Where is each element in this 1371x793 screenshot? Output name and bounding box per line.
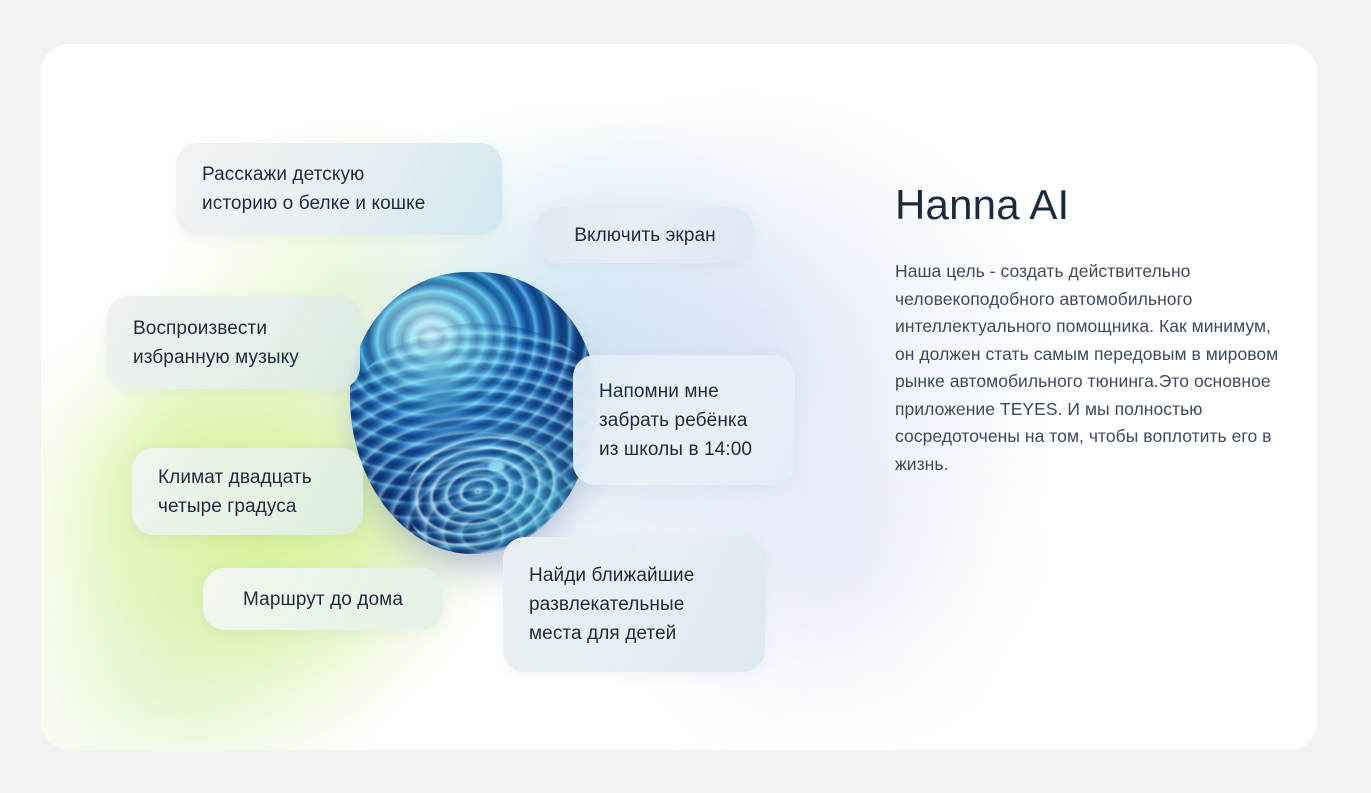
suggestion-bubble-places[interactable]: Найди ближайшиеразвлекательныеместа для … [503,537,765,672]
suggestion-bubble-route-label: Маршрут до дома [243,585,403,614]
suggestion-bubble-screen[interactable]: Включить экран [537,207,753,263]
suggestion-bubble-screen-label: Включить экран [574,221,716,250]
hanna-ai-card: Расскажи детскуюисторию о белке и кошке … [41,44,1317,750]
suggestion-bubble-reminder-label: Напомни мнезабрать ребёнкаиз школы в 14:… [599,377,752,464]
suggestion-bubble-music[interactable]: Воспроизвестиизбранную музыку [107,296,360,389]
orb-sphere [350,272,596,554]
info-panel: Hanna AI Наша цель - создать действитель… [895,180,1295,478]
suggestion-bubble-music-label: Воспроизвестиизбранную музыку [133,314,299,372]
hanna-ai-orb [350,272,596,554]
suggestion-bubble-story[interactable]: Расскажи детскуюисторию о белке и кошке [176,143,502,235]
page-title: Hanna AI [895,180,1295,230]
suggestion-bubble-story-label: Расскажи детскуюисторию о белке и кошке [202,160,425,218]
suggestion-bubble-reminder[interactable]: Напомни мнезабрать ребёнкаиз школы в 14:… [573,355,795,485]
info-description: Наша цель - создать действительно челове… [895,258,1287,478]
suggestion-bubble-climate[interactable]: Климат двадцатьчетыре градуса [132,448,363,535]
suggestion-bubble-climate-label: Климат двадцатьчетыре градуса [158,463,312,521]
suggestion-bubble-route[interactable]: Маршрут до дома [203,568,443,630]
suggestion-bubble-places-label: Найди ближайшиеразвлекательныеместа для … [529,561,694,648]
